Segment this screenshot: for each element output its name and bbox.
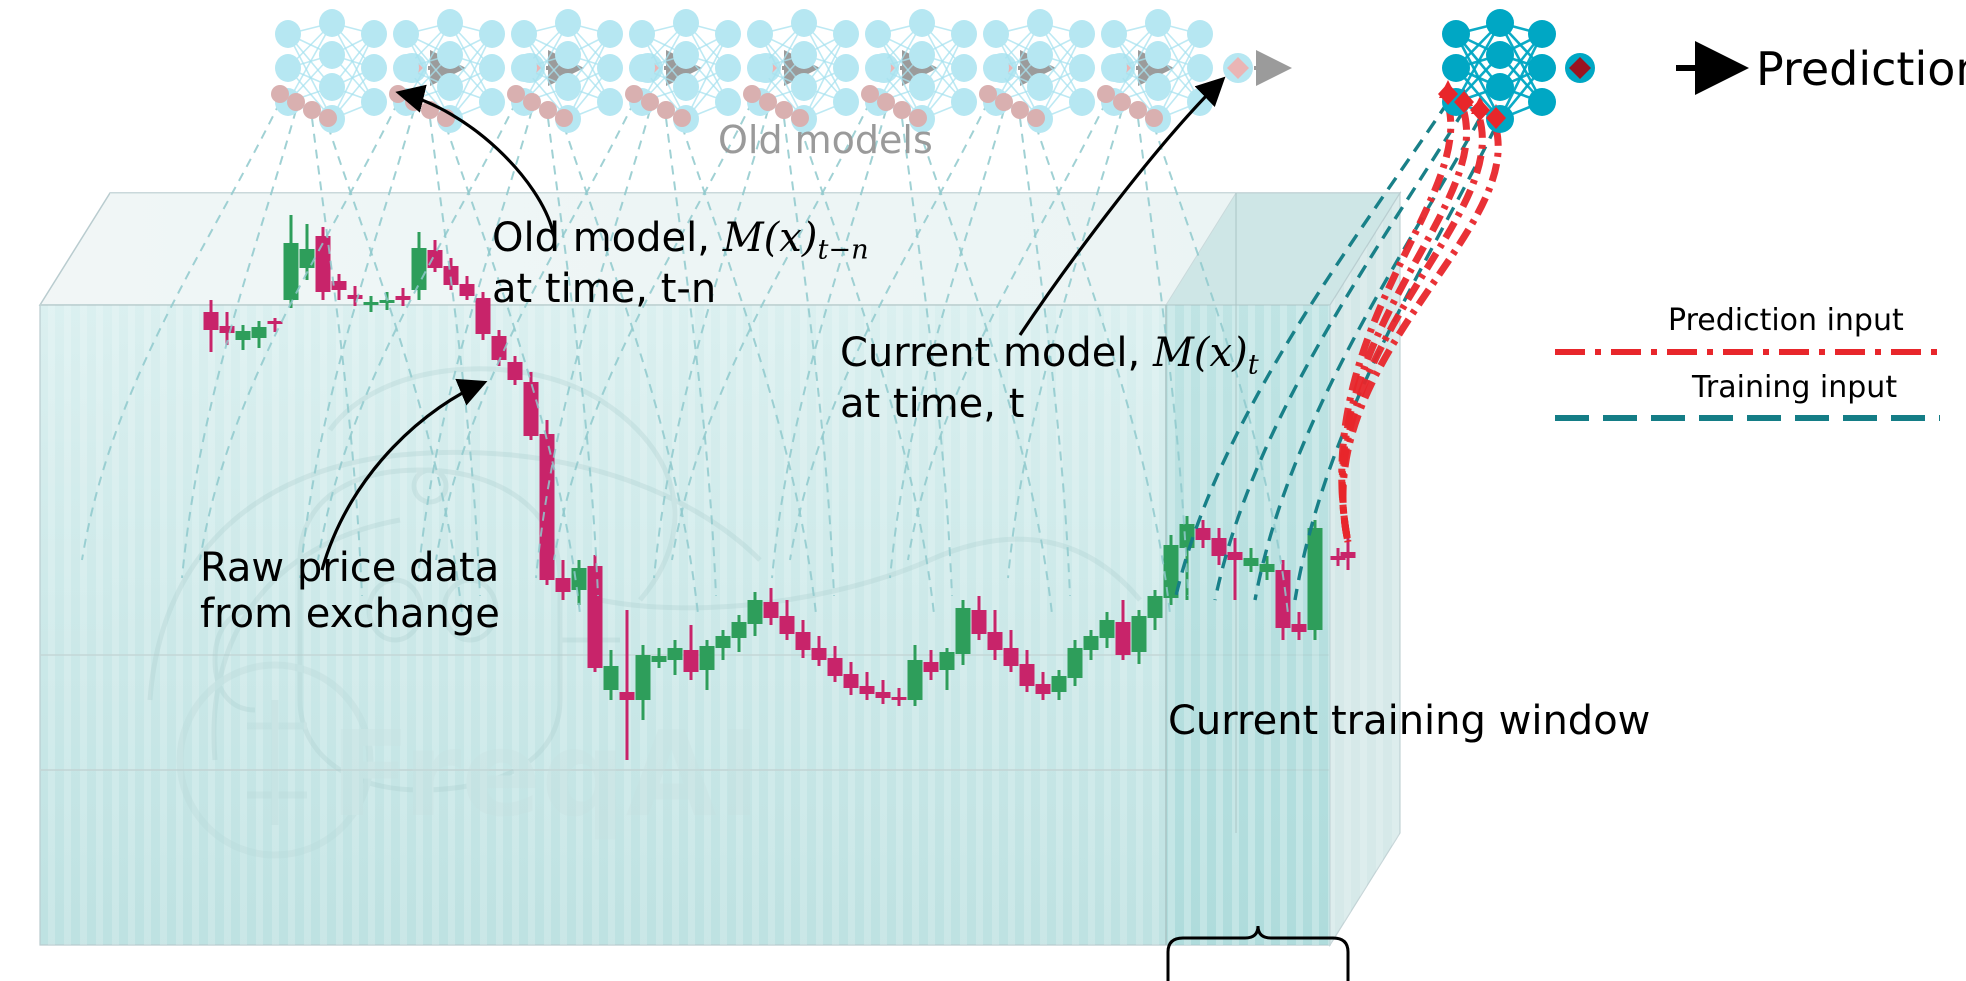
old-models-label: Old models [718,118,933,162]
current-training-window-label: Current training window [1168,698,1650,744]
raw-price-annotation-line2: from exchange [200,591,500,637]
current-model-annotation-line1: Current model, M(x)t [840,330,1259,381]
old-model-math-x: (x) [764,215,818,261]
legend-item-prediction-input-label: Prediction input [1668,303,1904,338]
model-chain [271,9,1595,133]
diagram-canvas: FreqAI [0,0,1966,981]
current-model-math-x: (x) [1194,330,1248,376]
svg-text:FreqAI: FreqAI [330,705,761,843]
old-model-math-m: M [723,215,764,261]
legend-item-training-input-label: Training input [1692,370,1897,405]
current-model-math-m: M [1153,330,1194,376]
current-model-annotation-line2: at time, t [840,381,1259,427]
prediction-label: Prediction [1756,42,1966,96]
raw-price-annotation-line1: Raw price data [200,545,500,591]
raw-price-annotation: Raw price data from exchange [200,545,500,637]
old-model-math-sub: t−n [817,235,868,266]
old-model-annotation: Old model, M(x)t−n at time, t-n [492,215,869,312]
diagram-svg: FreqAI [0,0,1966,981]
current-model-math-sub: t [1248,350,1259,381]
current-model-annotation: Current model, M(x)t at time, t [840,330,1259,427]
old-model-annotation-line1: Old model, M(x)t−n [492,215,869,266]
old-model-annotation-line2: at time, t-n [492,266,869,312]
